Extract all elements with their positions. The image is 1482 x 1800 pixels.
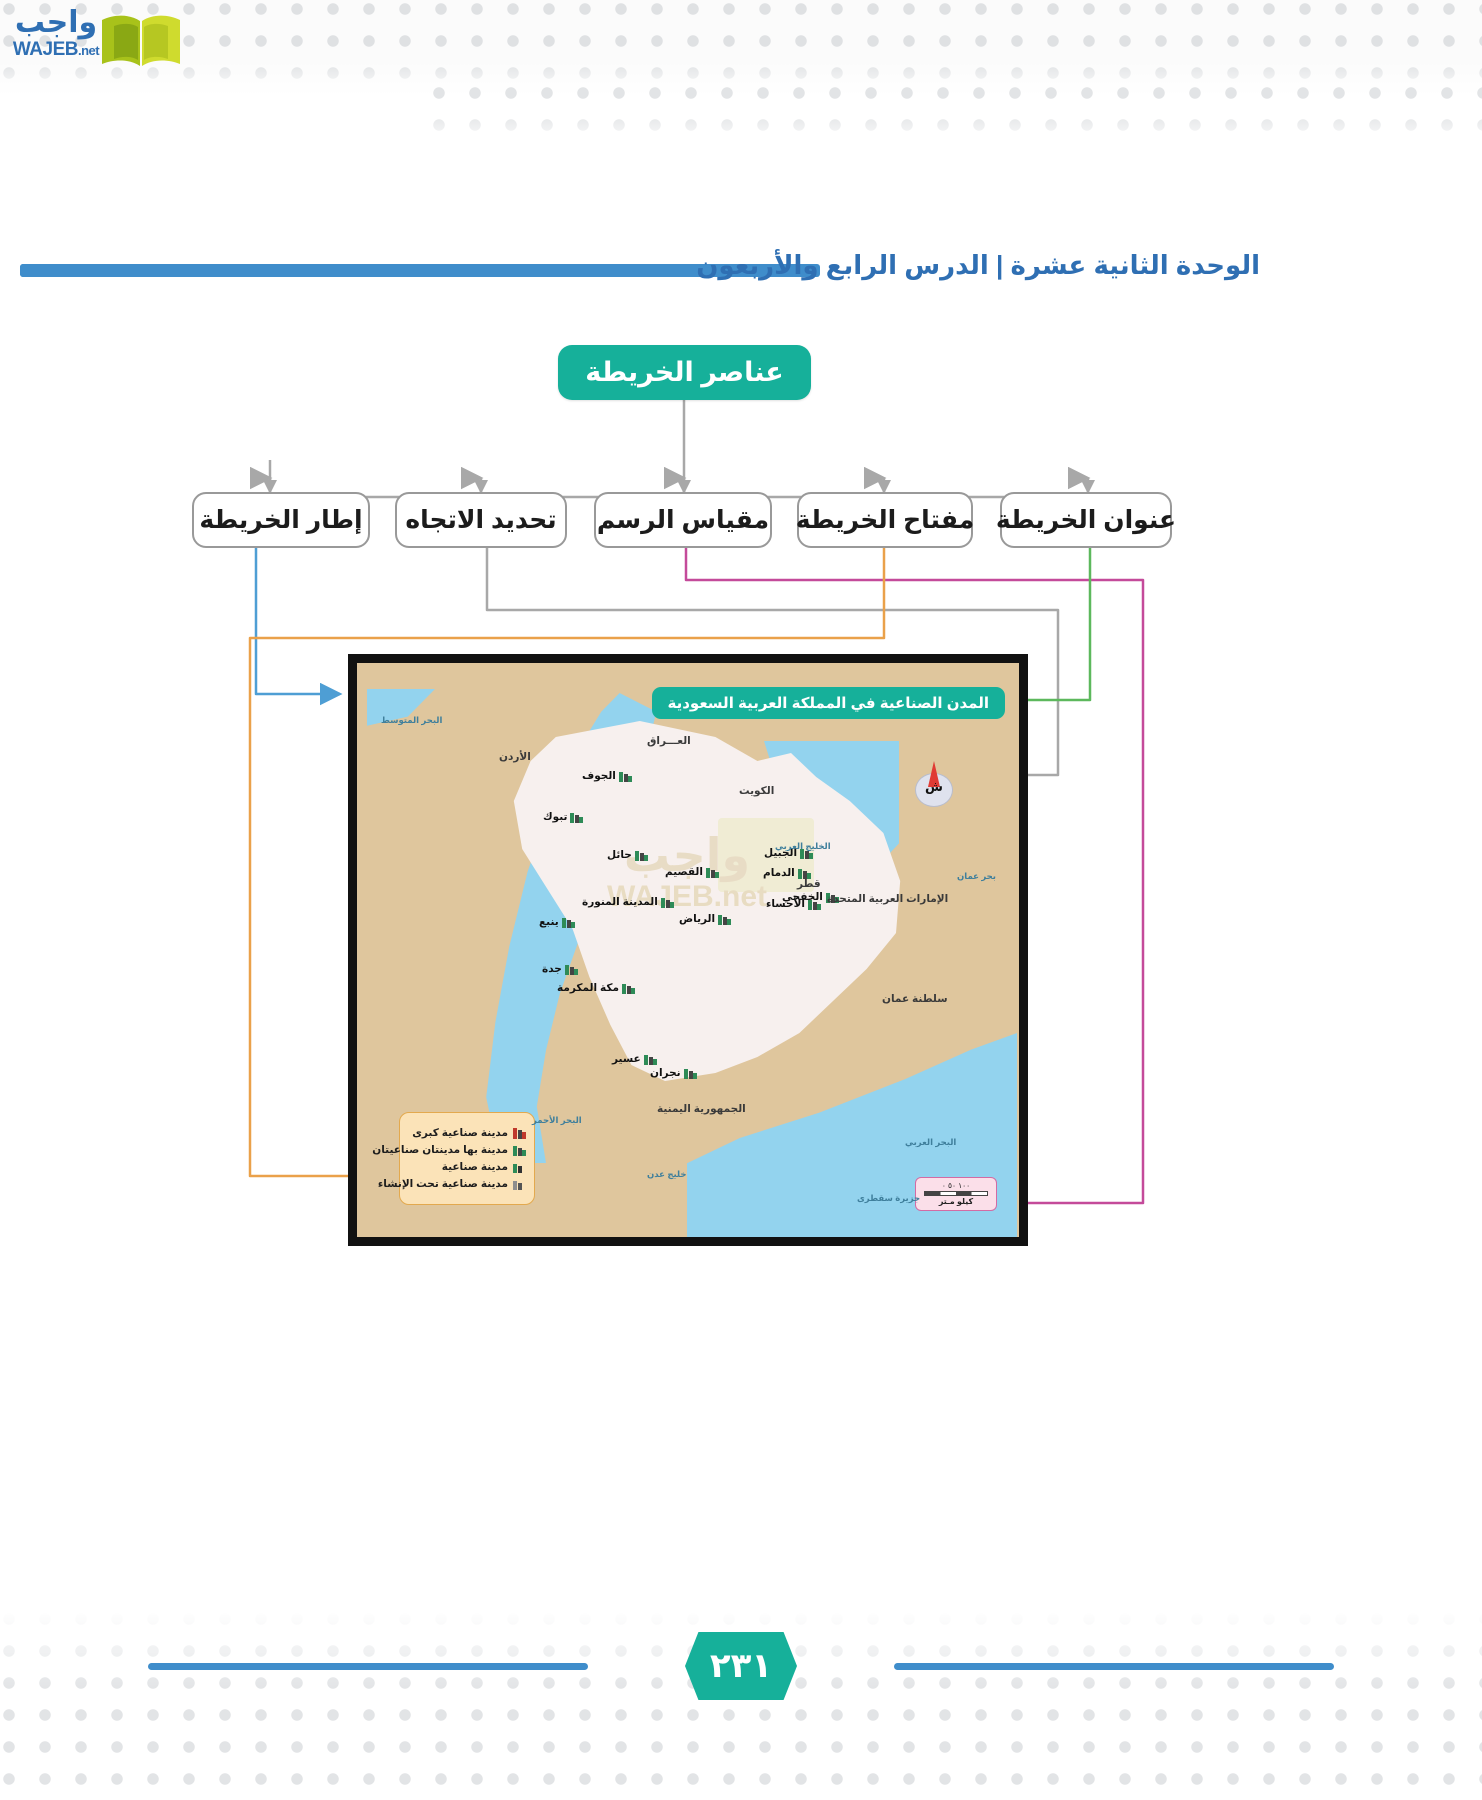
- city-label: جدة: [542, 963, 578, 975]
- map-canvas[interactable]: واجب WAJEB.net المدن الصناعية في المملكة…: [357, 663, 1019, 1237]
- map-elements-diagram: عناصر الخريطة إطار الخريطة تحديد الاتجاه…: [0, 0, 1482, 1500]
- country-label: الجمهورية اليمنية: [657, 1103, 746, 1115]
- water-body-label: البحر الأحمر: [532, 1115, 582, 1126]
- city-marker-icon: [635, 849, 648, 861]
- city-label: تبوك: [543, 811, 583, 823]
- legend-item: مدينة صناعية تحت الإنشاء: [408, 1178, 526, 1190]
- water-body-label: البحر المتوسط: [381, 715, 442, 726]
- page-footer: ٢٣١: [0, 1500, 1482, 1800]
- city-name: تبوك: [543, 811, 567, 823]
- city-marker-icon: [565, 963, 578, 975]
- country-label: الكويت: [739, 785, 774, 797]
- footer-rule-left: [148, 1663, 588, 1670]
- water-body-label: خليج عدن: [647, 1169, 687, 1180]
- city-name: الدمام: [763, 867, 795, 879]
- country-label: سلطنة عمان: [882, 993, 948, 1005]
- scale-tick-labels: ١٠٠ ٥٠ ٠: [918, 1181, 994, 1190]
- diagram-node-orientation[interactable]: تحديد الاتجاه: [395, 492, 567, 548]
- legend-item: مدينة بها مدينتان صناعيتان: [408, 1144, 526, 1156]
- diagram-node-map-frame[interactable]: إطار الخريطة: [192, 492, 370, 548]
- city-label: الرياض: [679, 913, 731, 925]
- city-marker-icon: [718, 913, 731, 925]
- diagram-root-node[interactable]: عناصر الخريطة: [558, 345, 811, 400]
- compass-rose: ش: [915, 761, 957, 807]
- city-marker-icon: [644, 1053, 657, 1065]
- city-marker-icon: [661, 896, 674, 908]
- mediterranean-sea-shape: [367, 689, 435, 735]
- city-label: الجوف: [582, 770, 632, 782]
- city-label: نجران: [650, 1067, 697, 1079]
- country-label: العـــراق: [647, 735, 691, 747]
- city-name: جدة: [542, 963, 562, 975]
- compass-north-label: ش: [915, 779, 953, 795]
- scale-bar-graphic: [924, 1191, 988, 1196]
- city-name: نجران: [650, 1067, 681, 1079]
- city-name: ينبع: [539, 916, 559, 928]
- city-marker-icon: [622, 982, 635, 994]
- city-marker-icon: [562, 916, 575, 928]
- country-label: قطر: [797, 878, 821, 890]
- map-legend: مدينة صناعية كبرى مدينة بها مدينتان صناع…: [399, 1112, 535, 1205]
- city-label: عسير: [612, 1053, 657, 1065]
- scale-unit-label: كيلو مـتر: [918, 1197, 994, 1206]
- water-body-label: بحر عمان: [957, 871, 996, 882]
- city-name: الخفجي: [782, 891, 823, 903]
- country-label: الأردن: [499, 751, 531, 763]
- map-title-banner: المدن الصناعية في المملكة العربية السعود…: [652, 687, 1006, 719]
- city-name: حائل: [607, 849, 632, 861]
- city-name: الرياض: [679, 913, 715, 925]
- country-label: الإمارات العربية المتحدة: [827, 893, 948, 905]
- city-name: المدينة المنورة: [582, 896, 658, 908]
- two-industrial-cities-icon: [513, 1144, 526, 1156]
- city-label: المدينة المنورة: [582, 896, 674, 908]
- city-label: ينبع: [539, 916, 575, 928]
- footer-rule-right: [894, 1663, 1334, 1670]
- diagram-node-legend-key[interactable]: مفتاح الخريطة: [797, 492, 973, 548]
- city-marker-icon: [706, 866, 719, 878]
- city-label: القصيم: [665, 866, 719, 878]
- diagram-node-scale[interactable]: مقياس الرسم: [594, 492, 772, 548]
- map-frame[interactable]: واجب WAJEB.net المدن الصناعية في المملكة…: [348, 654, 1028, 1246]
- city-name: القصيم: [665, 866, 703, 878]
- city-name: عسير: [612, 1053, 641, 1065]
- under-construction-city-icon: [513, 1178, 526, 1190]
- city-label: مكة المكرمة: [557, 982, 635, 994]
- legend-item: مدينة صناعية: [408, 1161, 526, 1173]
- major-industrial-city-icon: [513, 1127, 526, 1139]
- city-marker-icon: [619, 770, 632, 782]
- diagram-node-map-title[interactable]: عنوان الخريطة: [1000, 492, 1172, 548]
- water-body-label: جزيرة سقطرى: [857, 1193, 920, 1204]
- legend-item: مدينة صناعية كبرى: [408, 1127, 526, 1139]
- city-name: مكة المكرمة: [557, 982, 619, 994]
- water-body-label: الخليج العربي: [775, 841, 831, 852]
- industrial-city-icon: [513, 1161, 526, 1173]
- city-name: الجوف: [582, 770, 616, 782]
- page-number-badge: ٢٣١: [685, 1632, 797, 1700]
- city-marker-icon: [570, 811, 583, 823]
- water-body-label: البحر العربي: [905, 1137, 956, 1148]
- map-scale-bar: ١٠٠ ٥٠ ٠ كيلو مـتر: [915, 1177, 997, 1211]
- city-label: حائل: [607, 849, 648, 861]
- city-marker-icon: [684, 1067, 697, 1079]
